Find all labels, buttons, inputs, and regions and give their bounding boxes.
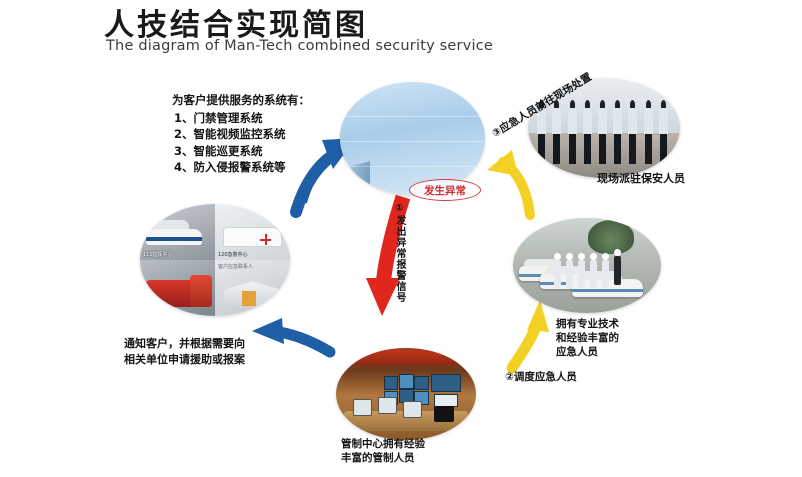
rescue-panel-1-caption: 110指挥中心 [143, 251, 212, 258]
photo-control-center [336, 348, 476, 440]
caption-notify-line2: 相关单位申请援助或报案 [124, 352, 245, 368]
photo-client-site-buildings [340, 82, 485, 195]
caption-notify-line1: 通知客户，并根据需要向 [124, 336, 245, 352]
caption-emergency-line3: 应急人员 [556, 345, 619, 359]
rescue-panel-4-caption: 客户应急联系人 [218, 263, 287, 270]
caption-control-line1: 管制中心拥有经验 [341, 437, 425, 451]
arrow-blue-left [252, 318, 330, 352]
status-badge-abnormal: 发生异常 [409, 179, 481, 201]
flow-label-step-2: ②调度应急人员 [505, 369, 577, 384]
caption-emergency-line1: 拥有专业技术 [556, 317, 619, 331]
systems-list-item-2: 2、智能视频监控系统 [172, 126, 310, 143]
systems-list-item-1: 1、门禁管理系统 [172, 110, 310, 127]
systems-list-heading: 为客户提供服务的系统有： [172, 92, 310, 109]
caption-emergency-team: 拥有专业技术 和经验丰富的 应急人员 [556, 317, 619, 359]
systems-list: 为客户提供服务的系统有： 1、门禁管理系统 2、智能视频监控系统 3、智能巡更系… [172, 92, 310, 176]
flow-label-step-1: ①发出异常报警信号 [392, 203, 407, 303]
rescue-panel-2-caption: 120急救中心 [218, 251, 287, 258]
systems-list-item-4: 4、防入侵报警系统等 [172, 159, 310, 176]
systems-list-item-3: 3、智能巡更系统 [172, 143, 310, 160]
caption-notify-client: 通知客户，并根据需要向 相关单位申请援助或报案 [124, 336, 245, 368]
caption-emergency-line2: 和经验丰富的 [556, 331, 619, 345]
caption-control-center: 管制中心拥有经验 丰富的管制人员 [341, 437, 425, 465]
diagram-canvas: 人技结合实现简图 The diagram of Man-Tech combine… [0, 0, 802, 477]
caption-on-site-guards: 现场派驻保安人员 [597, 170, 685, 186]
photo-rescue-units-collage: 110指挥中心 120急救中心 客户应急联系人 [140, 204, 290, 316]
caption-control-line2: 丰富的管制人员 [341, 451, 425, 465]
photo-emergency-team-vehicles [513, 218, 661, 313]
arrow-yellow-up-left [487, 150, 530, 215]
